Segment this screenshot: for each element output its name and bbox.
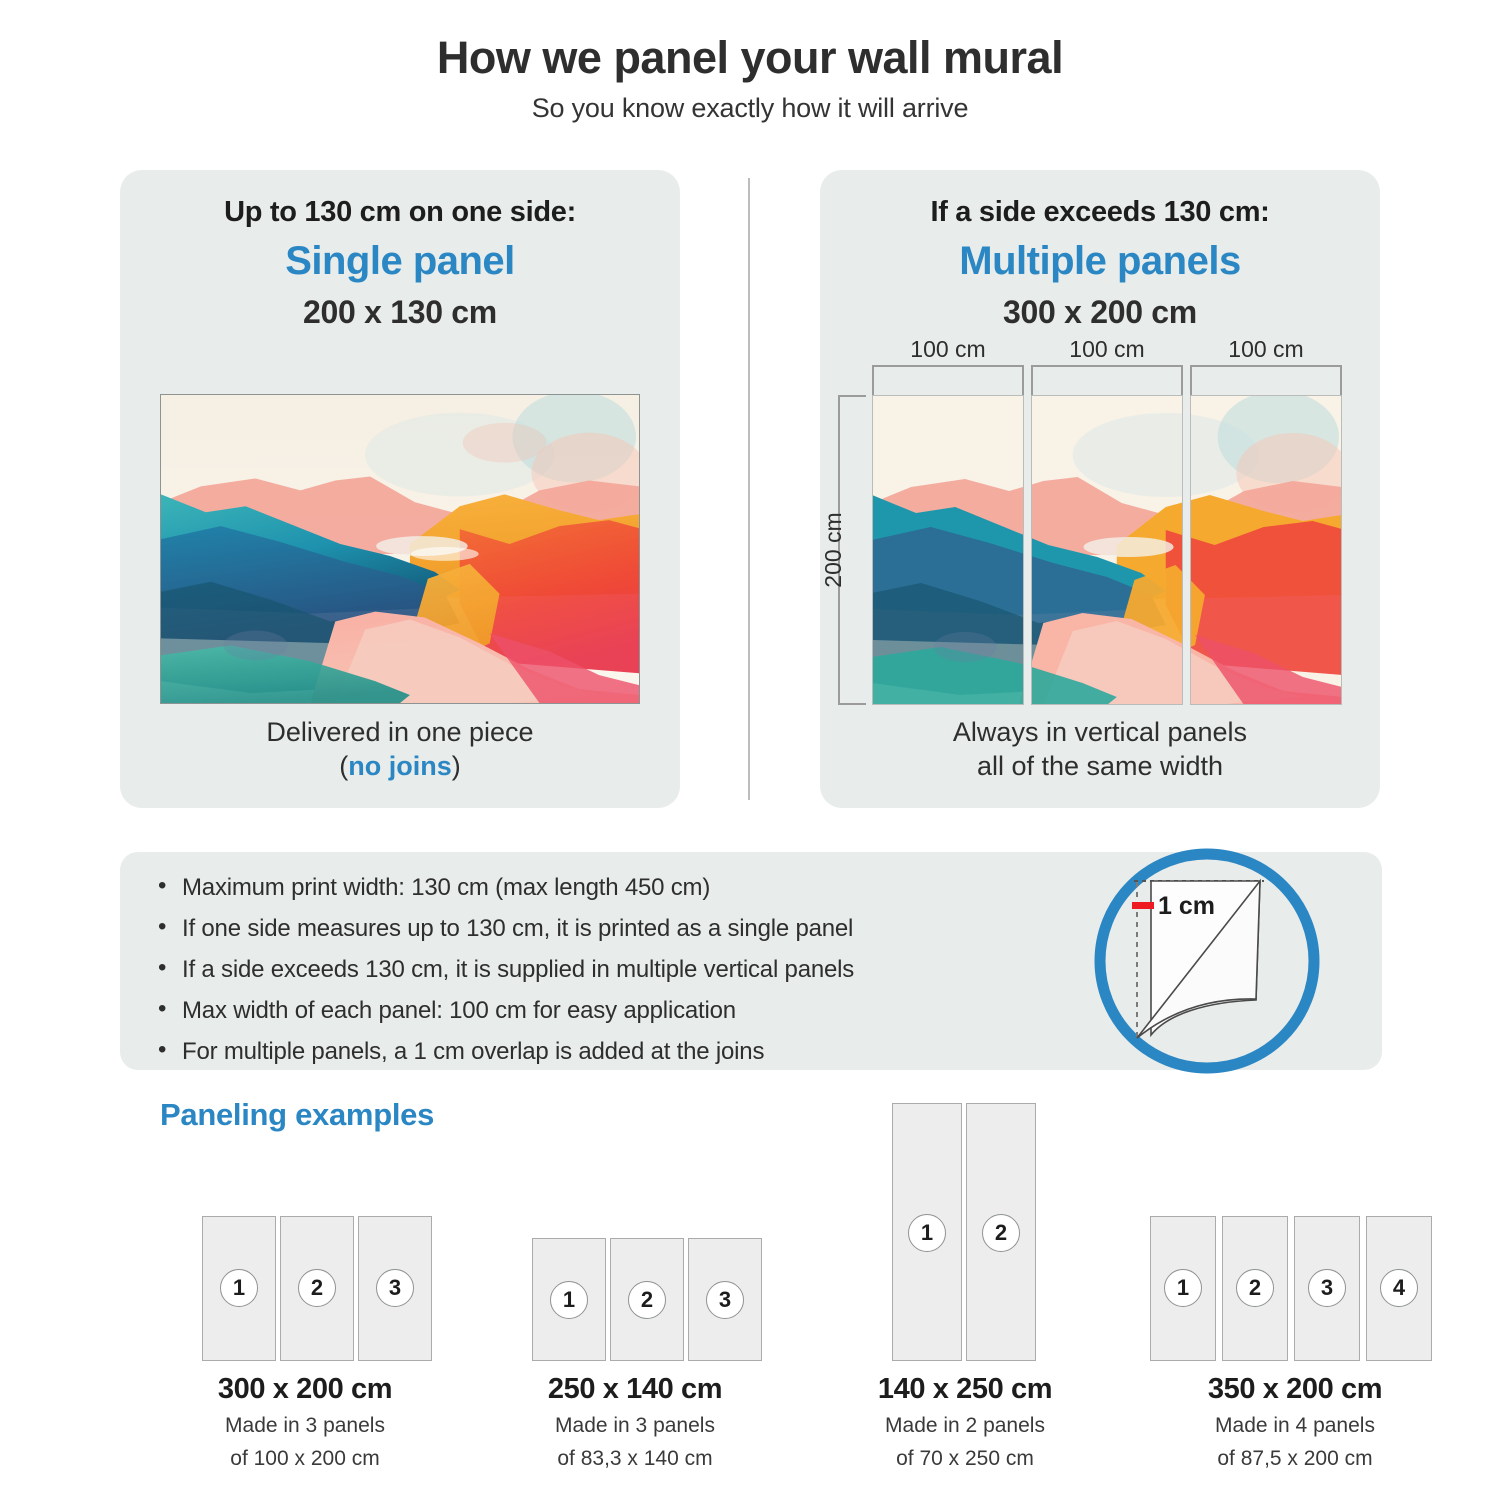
panel-number-badge: 2 bbox=[982, 1214, 1020, 1252]
panel-number-badge: 3 bbox=[706, 1281, 744, 1319]
height-dimension-bracket: 200 cm bbox=[838, 395, 866, 705]
overlap-diagram: 1 cm bbox=[1088, 842, 1326, 1080]
example-3-note-line2: of 70 x 250 cm bbox=[800, 1445, 1130, 1472]
single-panel-caption-line1: Delivered in one piece bbox=[120, 715, 680, 750]
panel-1-landscape-svg bbox=[872, 395, 1024, 705]
height-dimension-label: 200 cm bbox=[820, 512, 847, 587]
panel-number-badge: 4 bbox=[1380, 1269, 1418, 1307]
mural-artwork-single bbox=[160, 394, 640, 704]
mural-panel-2-art bbox=[1031, 395, 1183, 705]
example-4-panel-4: 4 bbox=[1366, 1216, 1432, 1361]
example-2-panel-1: 1 bbox=[532, 1238, 606, 1361]
overlap-diagram-svg: 1 cm bbox=[1088, 842, 1326, 1080]
panel-number-badge: 2 bbox=[298, 1269, 336, 1307]
panel-number-badge: 1 bbox=[908, 1214, 946, 1252]
example-3-note-line1: Made in 2 panels bbox=[800, 1412, 1130, 1439]
example-4-panel-3: 3 bbox=[1294, 1216, 1360, 1361]
multiple-panel-heading: Multiple panels bbox=[959, 239, 1240, 284]
comparison-cards: Up to 130 cm on one side: Single panel 2… bbox=[0, 170, 1500, 810]
example-2-note-line2: of 83,3 x 140 cm bbox=[470, 1445, 800, 1472]
example-3-panel-2: 2 bbox=[966, 1103, 1036, 1361]
multiple-panel-caption-line2: all of the same width bbox=[820, 749, 1380, 784]
mural-panel-1-art bbox=[872, 395, 1024, 705]
panel-number-badge: 2 bbox=[1236, 1269, 1274, 1307]
page-subtitle: So you know exactly how it will arrive bbox=[0, 93, 1500, 124]
multiple-panel-card: If a side exceeds 130 cm: Multiple panel… bbox=[820, 170, 1380, 808]
panel-number-badge: 3 bbox=[376, 1269, 414, 1307]
overlap-marker bbox=[1132, 902, 1154, 909]
example-1-panel-3: 3 bbox=[358, 1216, 432, 1361]
mural-panel-1 bbox=[872, 395, 1024, 705]
example-1-note-line2: of 100 x 200 cm bbox=[140, 1445, 470, 1472]
single-panel-size: 200 x 130 cm bbox=[303, 294, 497, 331]
multiple-panel-caption-line1: Always in vertical panels bbox=[820, 715, 1380, 750]
page-header: How we panel your wall mural So you know… bbox=[0, 0, 1500, 124]
example-140x250: 1 2 140 x 250 cm Made in 2 panels of 70 … bbox=[800, 1103, 1130, 1473]
single-panel-caption: Delivered in one piece (no joins) bbox=[120, 715, 680, 784]
example-1-panel-1: 1 bbox=[202, 1216, 276, 1361]
panel-2-width-label: 100 cm bbox=[1033, 336, 1181, 363]
example-350x200: 1 2 3 4 350 x 200 cm Made in 4 panels of… bbox=[1130, 1216, 1460, 1473]
example-3-panels: 1 2 bbox=[840, 1103, 1090, 1361]
paneling-examples-title: Paneling examples bbox=[160, 1097, 434, 1133]
example-3-panel-1: 1 bbox=[892, 1103, 962, 1361]
example-4-note-line1: Made in 4 panels bbox=[1130, 1412, 1460, 1439]
mural-panel-3 bbox=[1190, 395, 1342, 705]
panel-number-badge: 1 bbox=[220, 1269, 258, 1307]
single-panel-condition: Up to 130 cm on one side: bbox=[224, 196, 576, 229]
mural-artwork-multi: 200 cm 100 cm 100 cm 100 cm bbox=[872, 395, 1342, 705]
multiple-panel-size: 300 x 200 cm bbox=[1003, 294, 1197, 331]
paren-open: ( bbox=[339, 751, 348, 781]
example-300x200: 1 2 3 300 x 200 cm Made in 3 panels of 1… bbox=[140, 1216, 470, 1473]
page-title: How we panel your wall mural bbox=[0, 34, 1500, 83]
example-250x140: 1 2 3 250 x 140 cm Made in 3 panels of 8… bbox=[470, 1238, 800, 1473]
card-divider bbox=[748, 178, 750, 800]
example-4-panel-1: 1 bbox=[1150, 1216, 1216, 1361]
example-2-size: 250 x 140 cm bbox=[470, 1373, 800, 1406]
example-1-panels: 1 2 3 bbox=[180, 1216, 430, 1361]
example-4-panel-2: 2 bbox=[1222, 1216, 1288, 1361]
mural-panel-2 bbox=[1031, 395, 1183, 705]
single-panel-card: Up to 130 cm on one side: Single panel 2… bbox=[120, 170, 680, 808]
panel-2-landscape-svg bbox=[1031, 395, 1183, 705]
overlap-label: 1 cm bbox=[1158, 892, 1215, 920]
panel-number-badge: 3 bbox=[1308, 1269, 1346, 1307]
panel-number-badge: 1 bbox=[1164, 1269, 1202, 1307]
panel-3-width-label: 100 cm bbox=[1192, 336, 1340, 363]
example-1-panel-2: 2 bbox=[280, 1216, 354, 1361]
example-4-panels: 1 2 3 4 bbox=[1150, 1216, 1440, 1361]
paren-close: ) bbox=[452, 751, 461, 781]
example-4-size: 350 x 200 cm bbox=[1130, 1373, 1460, 1406]
multiple-panel-caption: Always in vertical panels all of the sam… bbox=[820, 715, 1380, 784]
mural-panel-3-art bbox=[1190, 395, 1342, 705]
panel-number-badge: 1 bbox=[550, 1281, 588, 1319]
example-4-note-line2: of 87,5 x 200 cm bbox=[1130, 1445, 1460, 1472]
example-3-size: 140 x 250 cm bbox=[800, 1373, 1130, 1406]
example-1-size: 300 x 200 cm bbox=[140, 1373, 470, 1406]
example-2-panels: 1 2 3 bbox=[510, 1238, 760, 1361]
panel-number-badge: 2 bbox=[628, 1281, 666, 1319]
single-panel-caption-line2: (no joins) bbox=[120, 749, 680, 784]
multiple-panel-condition: If a side exceeds 130 cm: bbox=[930, 196, 1269, 229]
panel-1-width-label: 100 cm bbox=[874, 336, 1022, 363]
single-panel-heading: Single panel bbox=[285, 239, 515, 284]
panel-3-landscape-svg bbox=[1190, 395, 1342, 705]
infographic-page: How we panel your wall mural So you know… bbox=[0, 0, 1500, 1500]
example-1-note-line1: Made in 3 panels bbox=[140, 1412, 470, 1439]
example-2-note-line1: Made in 3 panels bbox=[470, 1412, 800, 1439]
example-2-panel-3: 3 bbox=[688, 1238, 762, 1361]
watercolor-landscape-svg bbox=[161, 395, 639, 703]
no-joins-highlight: no joins bbox=[348, 751, 452, 781]
example-2-panel-2: 2 bbox=[610, 1238, 684, 1361]
